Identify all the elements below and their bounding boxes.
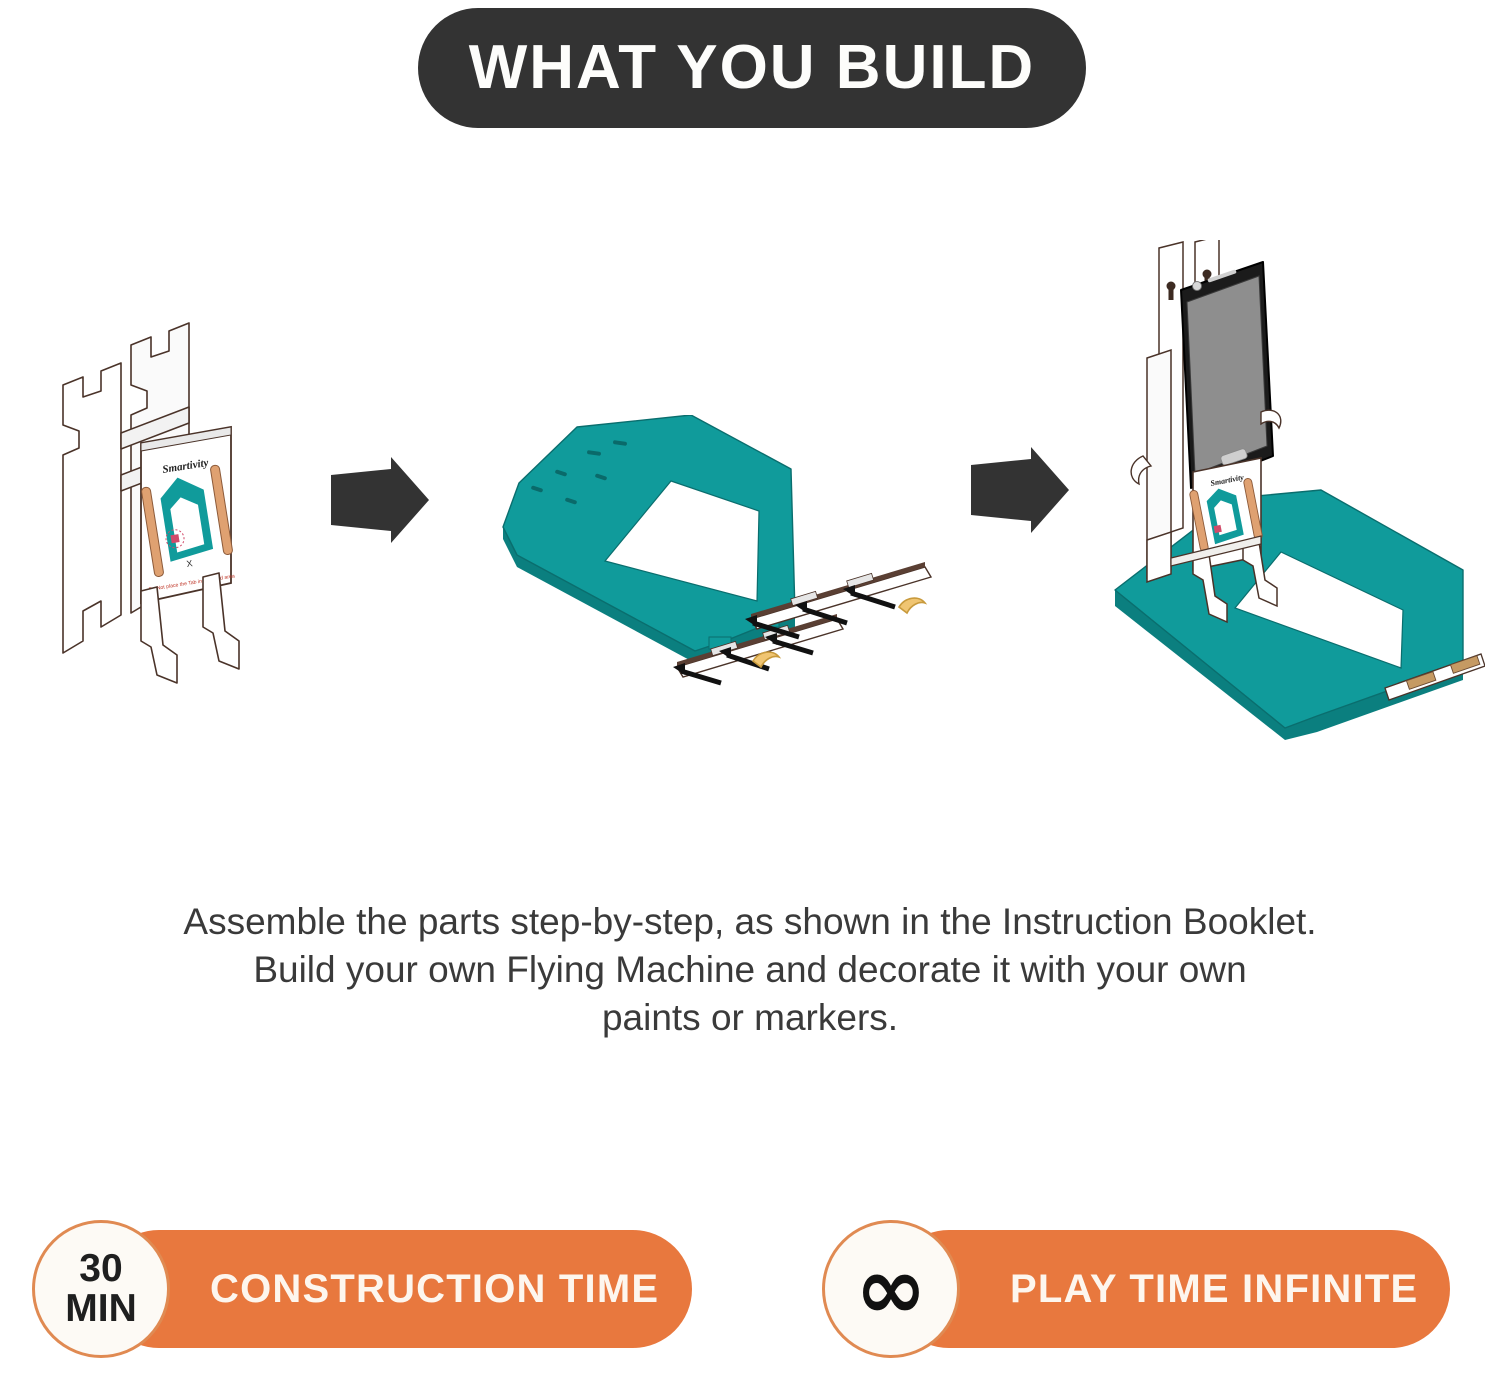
description-line-3: paints or markers. bbox=[50, 994, 1450, 1042]
step-1-parts-frame-illustration: Smartivity X Do Not place the Tab in col… bbox=[45, 315, 315, 715]
badge-play-time: PLAY TIME INFINITE ∞ bbox=[822, 1230, 1450, 1348]
description-text: Assemble the parts step-by-step, as show… bbox=[50, 898, 1450, 1042]
phone-camera-icon bbox=[1193, 282, 1202, 291]
construction-time-circle: 30 MIN bbox=[32, 1220, 170, 1358]
description-line-2: Build your own Flying Machine and decora… bbox=[50, 946, 1450, 994]
smartphone bbox=[1181, 262, 1273, 488]
construction-time-value: 30 bbox=[79, 1249, 122, 1289]
play-time-pill: PLAY TIME INFINITE bbox=[890, 1230, 1450, 1348]
play-time-label: PLAY TIME INFINITE bbox=[1010, 1267, 1418, 1312]
step-2-base-plate-illustration bbox=[495, 415, 965, 715]
infinity-icon: ∞ bbox=[855, 1259, 927, 1319]
step-arrow-2 bbox=[965, 445, 1075, 535]
what-you-build-page: WHAT YOU BUILD bbox=[0, 0, 1500, 1380]
construction-time-pill: CONSTRUCTION TIME bbox=[100, 1230, 692, 1348]
parts-frame-svg: Smartivity X Do Not place the Tab in col… bbox=[45, 315, 315, 715]
build-steps-illustrations: Smartivity X Do Not place the Tab in col… bbox=[0, 230, 1500, 800]
play-time-circle: ∞ bbox=[822, 1220, 960, 1358]
base-plate-svg bbox=[495, 415, 965, 715]
construction-time-unit: MIN bbox=[65, 1289, 137, 1329]
arrow-right-icon bbox=[965, 445, 1075, 535]
arrow-right-icon bbox=[325, 455, 435, 545]
construction-time-label: CONSTRUCTION TIME bbox=[210, 1267, 659, 1312]
finished-build-svg: Smartivity bbox=[1085, 240, 1485, 790]
step-3-finished-build-illustration: Smartivity bbox=[1085, 240, 1485, 790]
page-title: WHAT YOU BUILD bbox=[469, 37, 1035, 99]
section-header-pill: WHAT YOU BUILD bbox=[418, 8, 1086, 128]
description-line-1: Assemble the parts step-by-step, as show… bbox=[50, 898, 1450, 946]
step-arrow-1 bbox=[325, 455, 435, 545]
badge-construction-time: CONSTRUCTION TIME 30 MIN bbox=[32, 1230, 692, 1348]
